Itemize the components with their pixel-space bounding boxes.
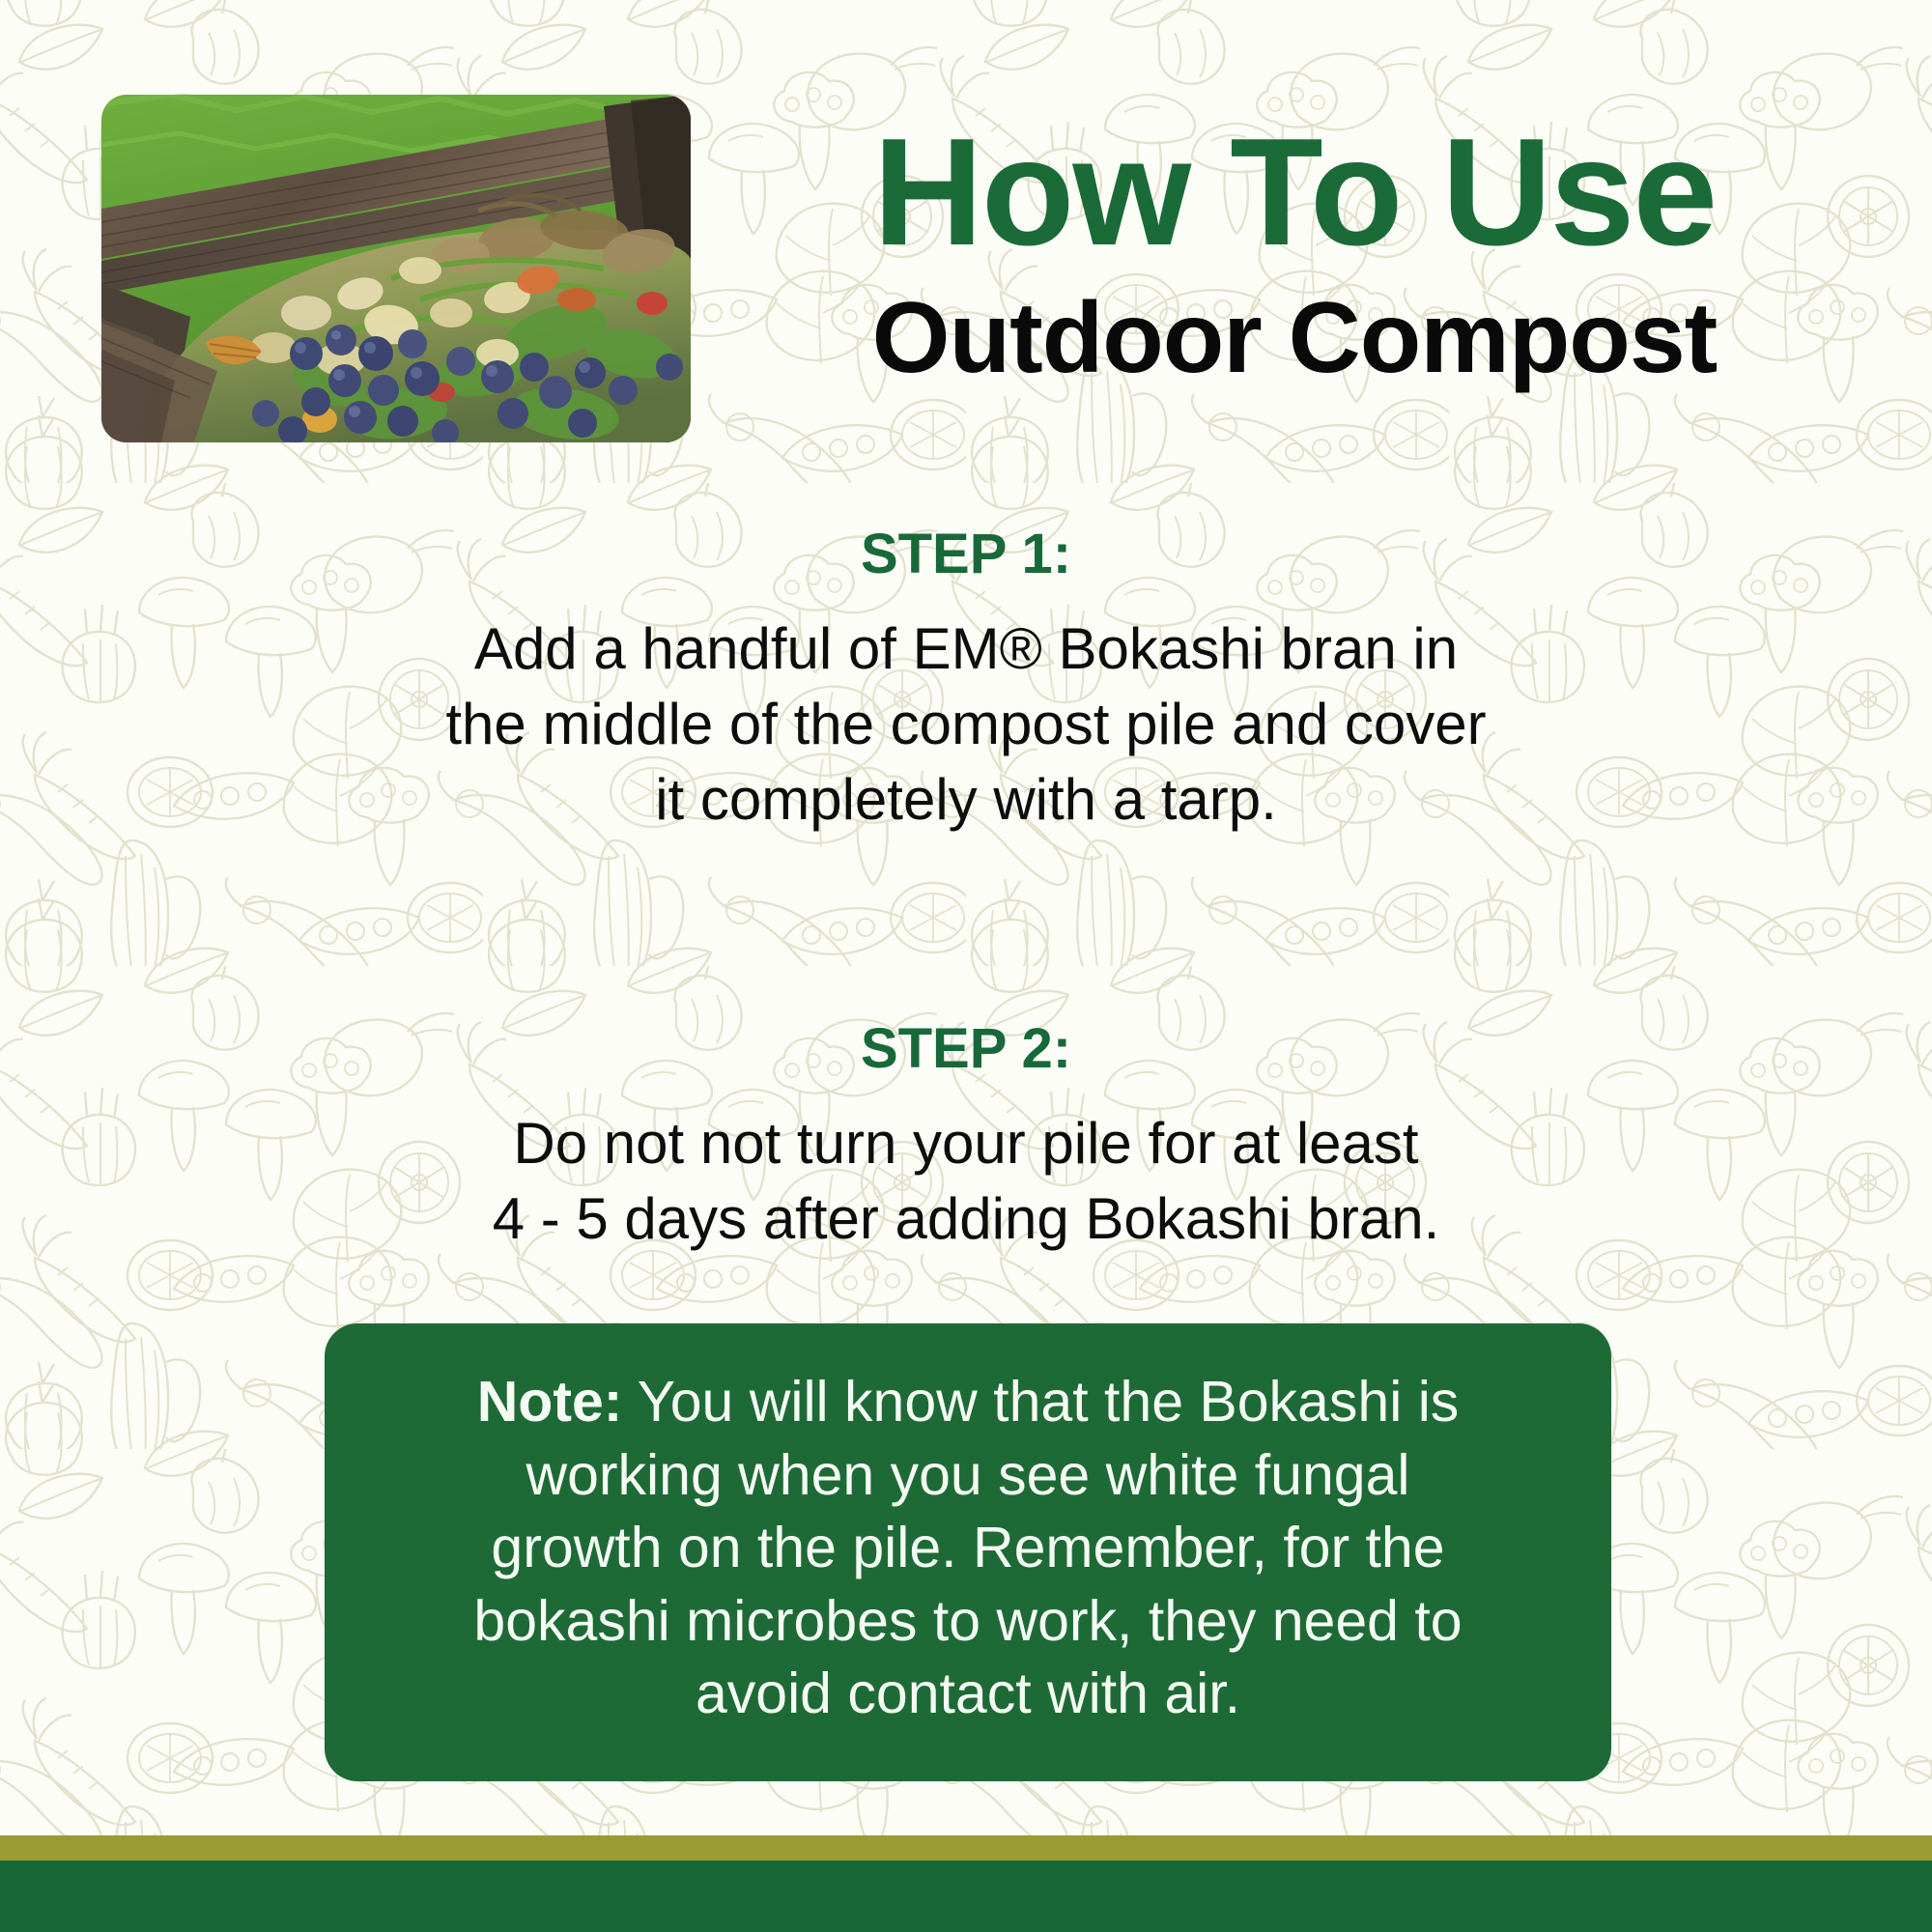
step-1: STEP 1: Add a handful of EM® Bokashi bra…	[0, 522, 1932, 838]
note-line-1-text: You will know that the Bokashi is	[622, 1370, 1459, 1434]
infographic-poster: How To Use Outdoor Compost STEP 1: Add a…	[0, 0, 1932, 1932]
footer-green-bar	[0, 1861, 1932, 1932]
note-text: Note: You will know that the Bokashi is …	[379, 1366, 1557, 1731]
step-1-line-2: the middle of the compost pile and cover	[338, 687, 1594, 762]
note-line-2: working when you see white fungal	[379, 1439, 1557, 1513]
page-title: How To Use	[715, 116, 1874, 269]
step-2-body: Do not not turn your pile for at least 4…	[338, 1106, 1594, 1257]
note-box: Note: You will know that the Bokashi is …	[325, 1323, 1611, 1781]
step-2: STEP 2: Do not not turn your pile for at…	[0, 1016, 1932, 1257]
step-2-line-1: Do not not turn your pile for at least	[338, 1106, 1594, 1181]
title-block: How To Use Outdoor Compost	[715, 116, 1874, 391]
step-2-label: STEP 2:	[0, 1016, 1932, 1081]
step-1-body: Add a handful of EM® Bokashi bran in the…	[338, 611, 1594, 838]
note-lead-label: Note:	[477, 1370, 623, 1434]
note-line-1: Note: You will know that the Bokashi is	[379, 1366, 1557, 1439]
note-line-5: avoid contact with air.	[379, 1658, 1557, 1731]
step-1-label: STEP 1:	[0, 522, 1932, 586]
step-2-line-2: 4 - 5 days after adding Bokashi bran.	[338, 1181, 1594, 1257]
step-1-line-1: Add a handful of EM® Bokashi bran in	[338, 611, 1594, 687]
step-1-line-3: it completely with a tarp.	[338, 762, 1594, 838]
steps-section: STEP 1: Add a handful of EM® Bokashi bra…	[0, 522, 1932, 1257]
compost-bin-photo	[101, 95, 691, 442]
header: How To Use Outdoor Compost	[0, 0, 1932, 454]
note-line-3: growth on the pile. Remember, for the	[379, 1512, 1557, 1585]
page-subtitle: Outdoor Compost	[715, 286, 1874, 391]
note-line-4: bokashi microbes to work, they need to	[379, 1585, 1557, 1659]
footer-olive-bar	[0, 1835, 1932, 1861]
